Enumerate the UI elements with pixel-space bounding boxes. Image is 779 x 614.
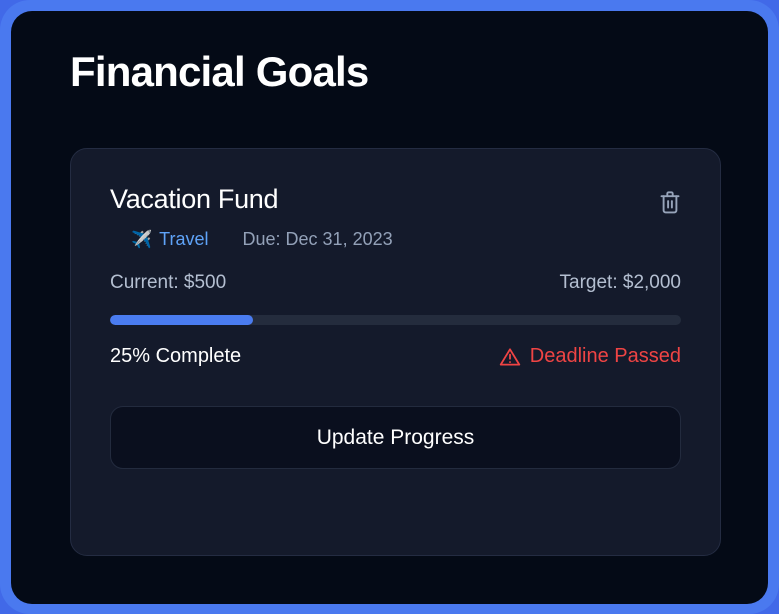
- progress-percent-label: 25% Complete: [110, 345, 241, 368]
- progress-bar-track: [110, 315, 681, 325]
- app-window-frame: Financial Goals Vacation Fund: [0, 0, 779, 614]
- goal-name: Vacation Fund: [110, 185, 278, 215]
- due-date: Due: Dec 31, 2023: [243, 229, 393, 250]
- trash-icon: [659, 190, 681, 215]
- status-badge-label: Deadline Passed: [530, 345, 681, 368]
- goal-card: Vacation Fund: [70, 148, 721, 556]
- category-label: Travel: [159, 229, 208, 250]
- goal-card-header: Vacation Fund: [110, 185, 681, 215]
- progress-bar-fill: [110, 315, 253, 325]
- app-surface: Financial Goals Vacation Fund: [11, 11, 768, 604]
- goal-amounts-row: Current: $500 Target: $2,000: [110, 272, 681, 294]
- goal-status-row: 25% Complete Deadline Passed: [110, 345, 681, 368]
- status-badge: Deadline Passed: [499, 345, 681, 368]
- goal-card-content: Vacation Fund: [71, 149, 720, 469]
- category-badge: ✈️ Travel: [131, 229, 209, 250]
- delete-goal-button[interactable]: [659, 190, 681, 215]
- warning-triangle-icon: [499, 347, 521, 367]
- target-amount: Target: $2,000: [560, 272, 681, 294]
- update-progress-button[interactable]: Update Progress: [110, 406, 681, 469]
- current-amount: Current: $500: [110, 272, 226, 294]
- goal-meta-row: ✈️ Travel Due: Dec 31, 2023: [110, 229, 681, 250]
- airplane-icon: ✈️: [131, 231, 152, 248]
- page-title: Financial Goals: [70, 49, 368, 95]
